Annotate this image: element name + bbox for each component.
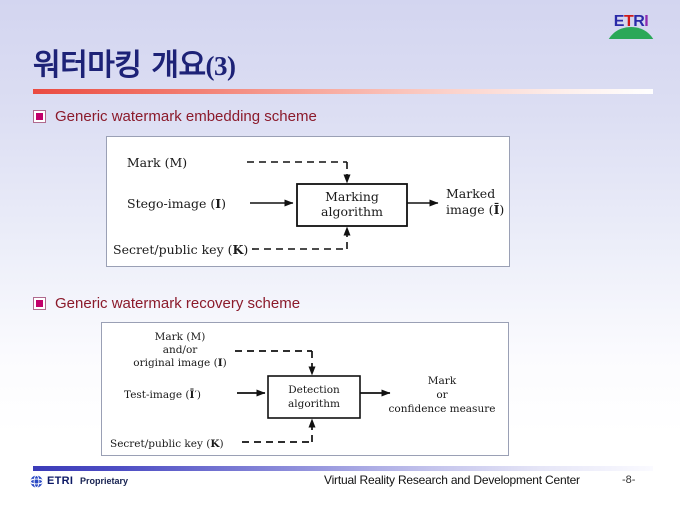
footer-proprietary-label: Proprietary bbox=[80, 476, 128, 486]
watermark-embedding-diagram: Mark (M) Stego-image (I) Secret/public k… bbox=[106, 136, 510, 267]
embed-output-label-line1: Marked bbox=[446, 186, 495, 201]
recover-input-label-mark-line1: Mark (M) bbox=[155, 331, 206, 343]
recover-output-label-line3: confidence measure bbox=[389, 403, 496, 415]
etri-logo-arc-icon bbox=[606, 27, 656, 49]
embed-output-label-line2: image (Ī) bbox=[446, 202, 504, 217]
bullet-label-recovery: Generic watermark recovery scheme bbox=[55, 295, 300, 312]
recover-input-label-secret-key: Secret/public key (K) bbox=[110, 438, 224, 450]
recover-process-box bbox=[268, 376, 360, 418]
globe-icon bbox=[30, 475, 43, 488]
bullet-label-embedding: Generic watermark embedding scheme bbox=[55, 108, 317, 125]
recover-input-label-mark-line2: and/or bbox=[163, 344, 199, 356]
recover-output-label-line1: Mark bbox=[428, 375, 457, 387]
recover-process-box-line1: Detection bbox=[288, 384, 340, 396]
recover-output-label-line2: or bbox=[436, 389, 448, 401]
footer-center-label: Virtual Reality Research and Development… bbox=[324, 473, 580, 487]
bullet-item-recovery: Generic watermark recovery scheme bbox=[33, 295, 300, 312]
recovery-diagram-svg: Mark (M) and/or original image (I) Test-… bbox=[102, 323, 508, 455]
square-bullet-icon bbox=[33, 110, 46, 123]
recover-input-label-mark-line3: original image (I) bbox=[133, 357, 226, 369]
page-title: 워터마킹 개요(3) bbox=[33, 40, 236, 84]
slide-canvas: ETRI 워터마킹 개요(3) Generic watermark embedd… bbox=[0, 0, 680, 510]
etri-logo: ETRI bbox=[604, 13, 658, 39]
footer-page-number: -8- bbox=[622, 474, 635, 486]
embed-input-label-stego-image: Stego-image (I) bbox=[127, 196, 226, 211]
title-divider bbox=[33, 89, 653, 94]
watermark-recovery-diagram: Mark (M) and/or original image (I) Test-… bbox=[101, 322, 509, 456]
embed-input-label-mark: Mark (M) bbox=[127, 155, 187, 170]
embed-process-box-line1: Marking bbox=[325, 189, 379, 204]
etri-logo-letter-i: I bbox=[644, 13, 648, 30]
page-title-number: (3) bbox=[206, 51, 236, 81]
page-title-text: 워터마킹 개요 bbox=[33, 48, 206, 83]
bullet-item-embedding: Generic watermark embedding scheme bbox=[33, 108, 317, 125]
footer-etri-label: ETRI bbox=[47, 475, 73, 487]
embed-input-label-secret-key: Secret/public key (K) bbox=[113, 242, 248, 257]
recover-process-box-line2: algorithm bbox=[288, 398, 340, 410]
embed-process-box-line2: algorithm bbox=[321, 204, 383, 219]
embedding-diagram-svg: Mark (M) Stego-image (I) Secret/public k… bbox=[107, 137, 509, 266]
recover-input-label-test-image: Test-image (Ī′) bbox=[124, 388, 201, 401]
footer-divider bbox=[33, 466, 653, 471]
square-bullet-icon bbox=[33, 297, 46, 310]
